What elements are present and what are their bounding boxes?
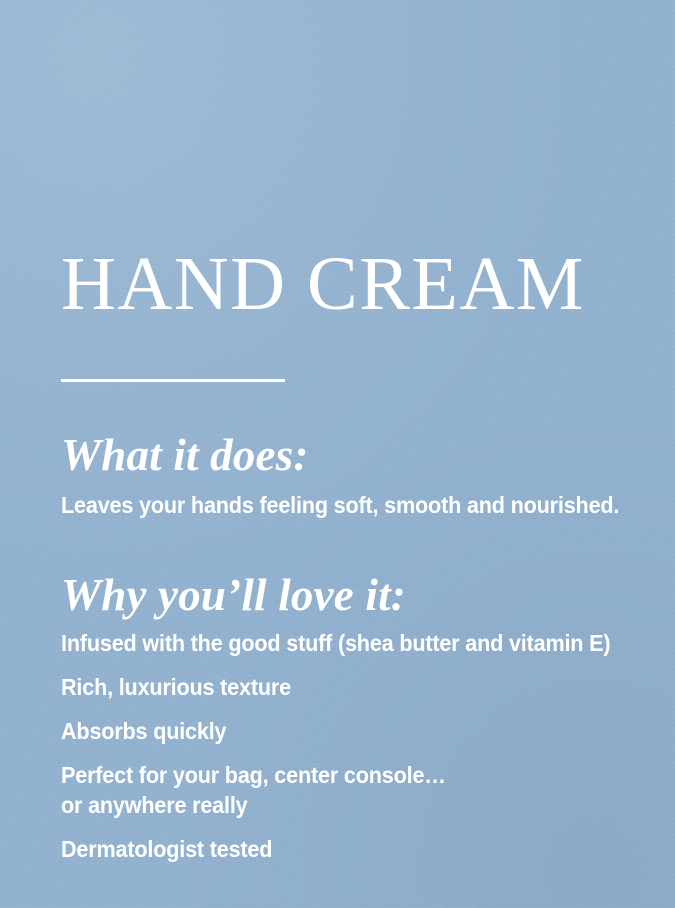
list-item: Perfect for your bag, center console… or… bbox=[61, 761, 635, 819]
benefit-text: Perfect for your bag, center console… bbox=[61, 761, 601, 790]
list-item: Dermatologist tested bbox=[61, 835, 635, 864]
section-why-youll-love-it: Why you’ll love it: Infused with the goo… bbox=[61, 572, 635, 864]
section-heading-what-it-does: What it does: bbox=[61, 432, 635, 479]
product-label-card: HAND CREAM What it does: Leaves your han… bbox=[0, 0, 675, 908]
benefit-text: Rich, luxurious texture bbox=[61, 673, 601, 702]
benefit-text: Absorbs quickly bbox=[61, 717, 601, 746]
list-item: Absorbs quickly bbox=[61, 717, 635, 746]
title-divider bbox=[61, 379, 285, 382]
section-what-it-does: What it does: Leaves your hands feeling … bbox=[61, 432, 635, 520]
benefits-list: Infused with the good stuff (shea butter… bbox=[61, 629, 635, 864]
section-heading-why-youll-love-it: Why you’ll love it: bbox=[61, 572, 635, 619]
list-item: Infused with the good stuff (shea butter… bbox=[61, 629, 635, 658]
benefit-text: Dermatologist tested bbox=[61, 835, 601, 864]
label-content: HAND CREAM What it does: Leaves your han… bbox=[0, 0, 675, 908]
benefit-text: Infused with the good stuff (shea butter… bbox=[61, 629, 601, 658]
list-item: Rich, luxurious texture bbox=[61, 673, 635, 702]
what-it-does-description: Leaves your hands feeling soft, smooth a… bbox=[61, 491, 601, 520]
benefit-text-continuation: or anywhere really bbox=[61, 791, 601, 820]
page-title: HAND CREAM bbox=[61, 246, 585, 322]
